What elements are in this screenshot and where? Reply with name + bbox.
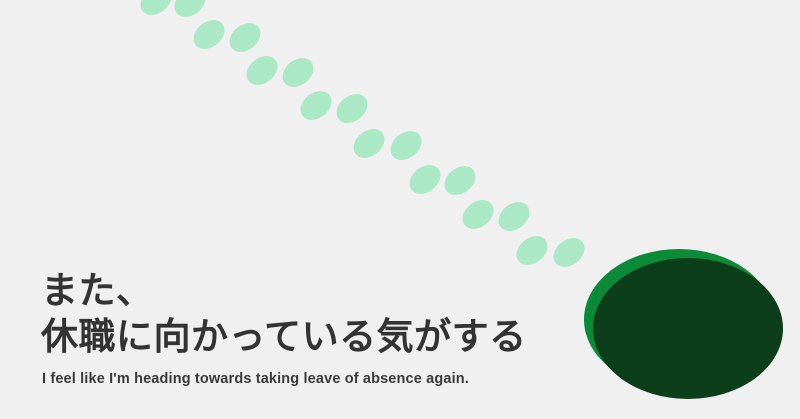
headline-line-1: また、: [41, 268, 601, 314]
hole-pit: [593, 258, 783, 399]
footprint-ellipse: [404, 159, 446, 200]
footprint-ellipse: [439, 160, 481, 201]
headline-line-2: 休職に向かっている気がする: [41, 314, 601, 360]
footprint-ellipse: [348, 123, 390, 164]
caption-block: また、 休職に向かっている気がする I feel like I'm headin…: [41, 268, 601, 388]
footprint-ellipse: [331, 88, 373, 129]
footprint-ellipse: [169, 0, 211, 23]
footprint-ellipse: [493, 196, 535, 237]
footprint-ellipse: [224, 17, 266, 58]
footprint-ellipse: [241, 50, 283, 91]
footprint-ellipse: [135, 0, 177, 21]
poster-canvas: また、 休職に向かっている気がする I feel like I'm headin…: [0, 0, 800, 419]
footprint-ellipse: [511, 230, 553, 271]
subtitle-translation: I feel like I'm heading towards taking l…: [42, 370, 601, 388]
footprint-ellipse: [277, 52, 319, 93]
footprint-ellipse: [295, 85, 337, 126]
hole-graphic: [584, 249, 774, 390]
footprint-ellipse: [188, 14, 230, 55]
footprint-ellipse: [385, 125, 427, 166]
footprint-ellipse: [457, 194, 499, 235]
headline: また、 休職に向かっている気がする: [41, 268, 601, 360]
